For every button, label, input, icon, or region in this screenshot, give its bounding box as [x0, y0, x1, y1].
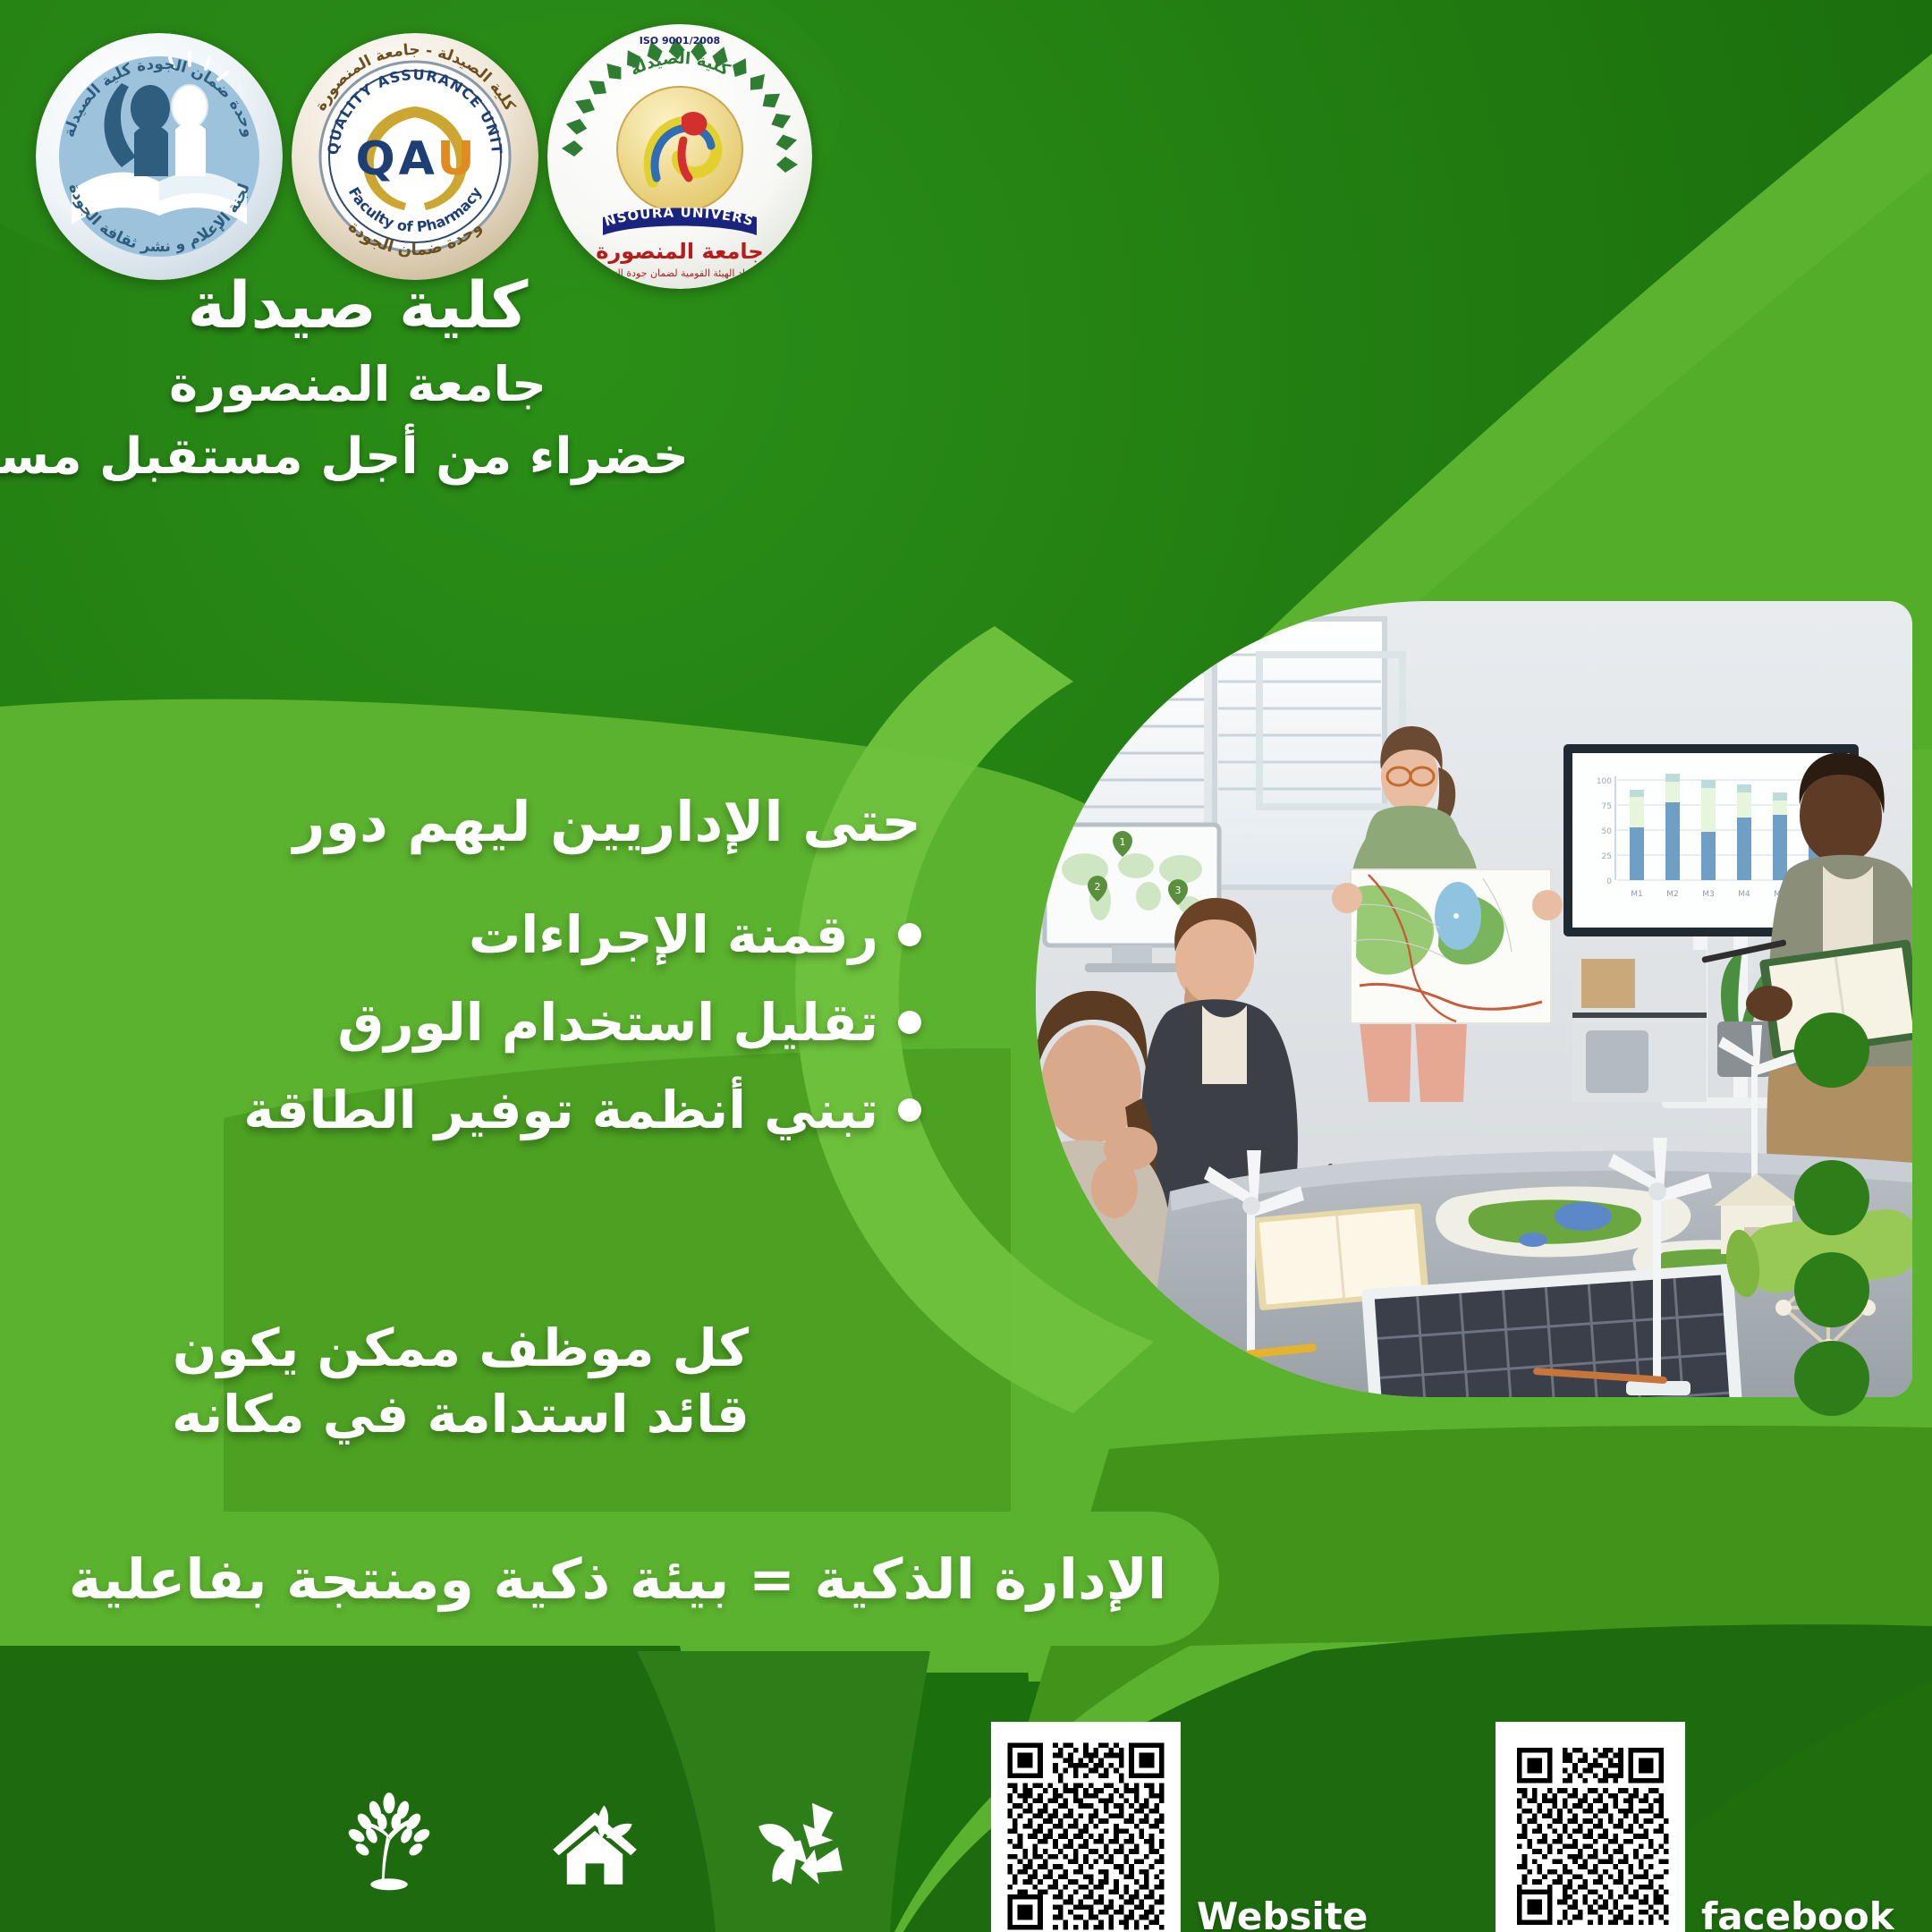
- svg-text:50: 50: [1602, 827, 1613, 836]
- title-line-2: جامعة المنصورة: [27, 353, 689, 416]
- benefits-list: رقمنة الإجراءات تقليل استخدام الورق تبني…: [0, 909, 921, 1136]
- website-qr[interactable]: [991, 1722, 1181, 1932]
- bullet-dot-icon: [898, 1098, 921, 1122]
- closing-line-1: كل موظف ممكن يكون: [0, 1315, 921, 1381]
- slogan-banner: الإدارة الذكية = بيئة ذكية ومنتجة بفاعلي…: [16, 1512, 1219, 1646]
- logo-row: وحدة ضمان الجودة كلية الصيدلة لجنة الإعل…: [36, 27, 948, 286]
- title-line-1: كلية صيدلة: [27, 268, 689, 343]
- mansoura-arabic-main: جامعة المنصورة: [596, 239, 763, 264]
- closing-line-2: قائد استدامة في مكانه: [0, 1381, 921, 1447]
- facebook-qr[interactable]: [1496, 1722, 1685, 1932]
- mansoura-university-logo: MANSOURA UNIVERSITY جامعة المنصورة اعتما…: [547, 24, 812, 289]
- bullet-label: رقمنة الإجراءات: [469, 909, 878, 961]
- bullet-dot-icon: [898, 1011, 921, 1034]
- eco-house-icon: [537, 1784, 653, 1901]
- eco-icon-row: [331, 1775, 859, 1910]
- accent-dot-3: [1794, 1252, 1869, 1327]
- bullet-label: تقليل استخدام الورق: [337, 996, 878, 1048]
- svg-text:M3: M3: [1702, 890, 1715, 899]
- svg-text:75: 75: [1602, 802, 1612, 811]
- svg-text:1: 1: [1120, 836, 1126, 848]
- svg-text:M1: M1: [1631, 890, 1643, 899]
- qau-acronym: QAU: [355, 132, 474, 186]
- svg-text:M4: M4: [1738, 890, 1750, 899]
- sustainability-meeting-photo: 1 2 3 100 75 50 25 0: [1036, 601, 1912, 1397]
- svg-text:0: 0: [1606, 877, 1612, 886]
- svg-text:2: 2: [1095, 881, 1101, 893]
- qau-logo: QAU QUALITY ASSURANCE UNIT Faculty of Ph…: [292, 33, 538, 280]
- page-title: كلية صيدلة جامعة المنصورة خضراء من أجل م…: [27, 268, 689, 490]
- website-qr-label: Website: [1197, 1894, 1368, 1932]
- list-item: تقليل استخدام الورق: [0, 996, 921, 1048]
- recycle-leaf-icon: [742, 1784, 859, 1901]
- tree-icon: [331, 1784, 447, 1901]
- accent-dot-2: [1794, 1160, 1869, 1235]
- bullet-dot-icon: [898, 923, 921, 946]
- website-qr-block[interactable]: Website: [991, 1722, 1368, 1932]
- list-item: رقمنة الإجراءات: [0, 909, 921, 961]
- svg-text:M2: M2: [1666, 890, 1679, 899]
- list-item: تبني أنظمة توفير الطاقة: [0, 1084, 921, 1136]
- mansoura-iso-text: ISO 9001/2008: [640, 35, 720, 47]
- accent-dot-4: [1794, 1341, 1869, 1416]
- svg-text:100: 100: [1597, 777, 1612, 786]
- title-line-3: خضراء من أجل مستقبل مستدام: [27, 425, 689, 490]
- body-lead: حتى الإداريين ليهم دور: [0, 787, 921, 857]
- svg-text:3: 3: [1175, 885, 1182, 896]
- quality-assurance-unit-logo: وحدة ضمان الجودة كلية الصيدلة لجنة الإعل…: [36, 33, 283, 280]
- svg-text:25: 25: [1602, 852, 1612, 861]
- facebook-qr-label: facebook: [1701, 1894, 1894, 1932]
- closing-statement: كل موظف ممكن يكون قائد استدامة في مكانه: [0, 1315, 921, 1447]
- bullet-label: تبني أنظمة توفير الطاقة: [243, 1084, 878, 1136]
- poster-canvas: وحدة ضمان الجودة كلية الصيدلة لجنة الإعل…: [0, 0, 1932, 1932]
- body-copy: حتى الإداريين ليهم دور رقمنة الإجراءات ت…: [0, 787, 975, 1172]
- accent-dot-1: [1794, 1013, 1869, 1088]
- facebook-qr-block[interactable]: facebook: [1496, 1722, 1894, 1932]
- slogan-text: الإدارة الذكية = بيئة ذكية ومنتجة بفاعلي…: [69, 1546, 1166, 1612]
